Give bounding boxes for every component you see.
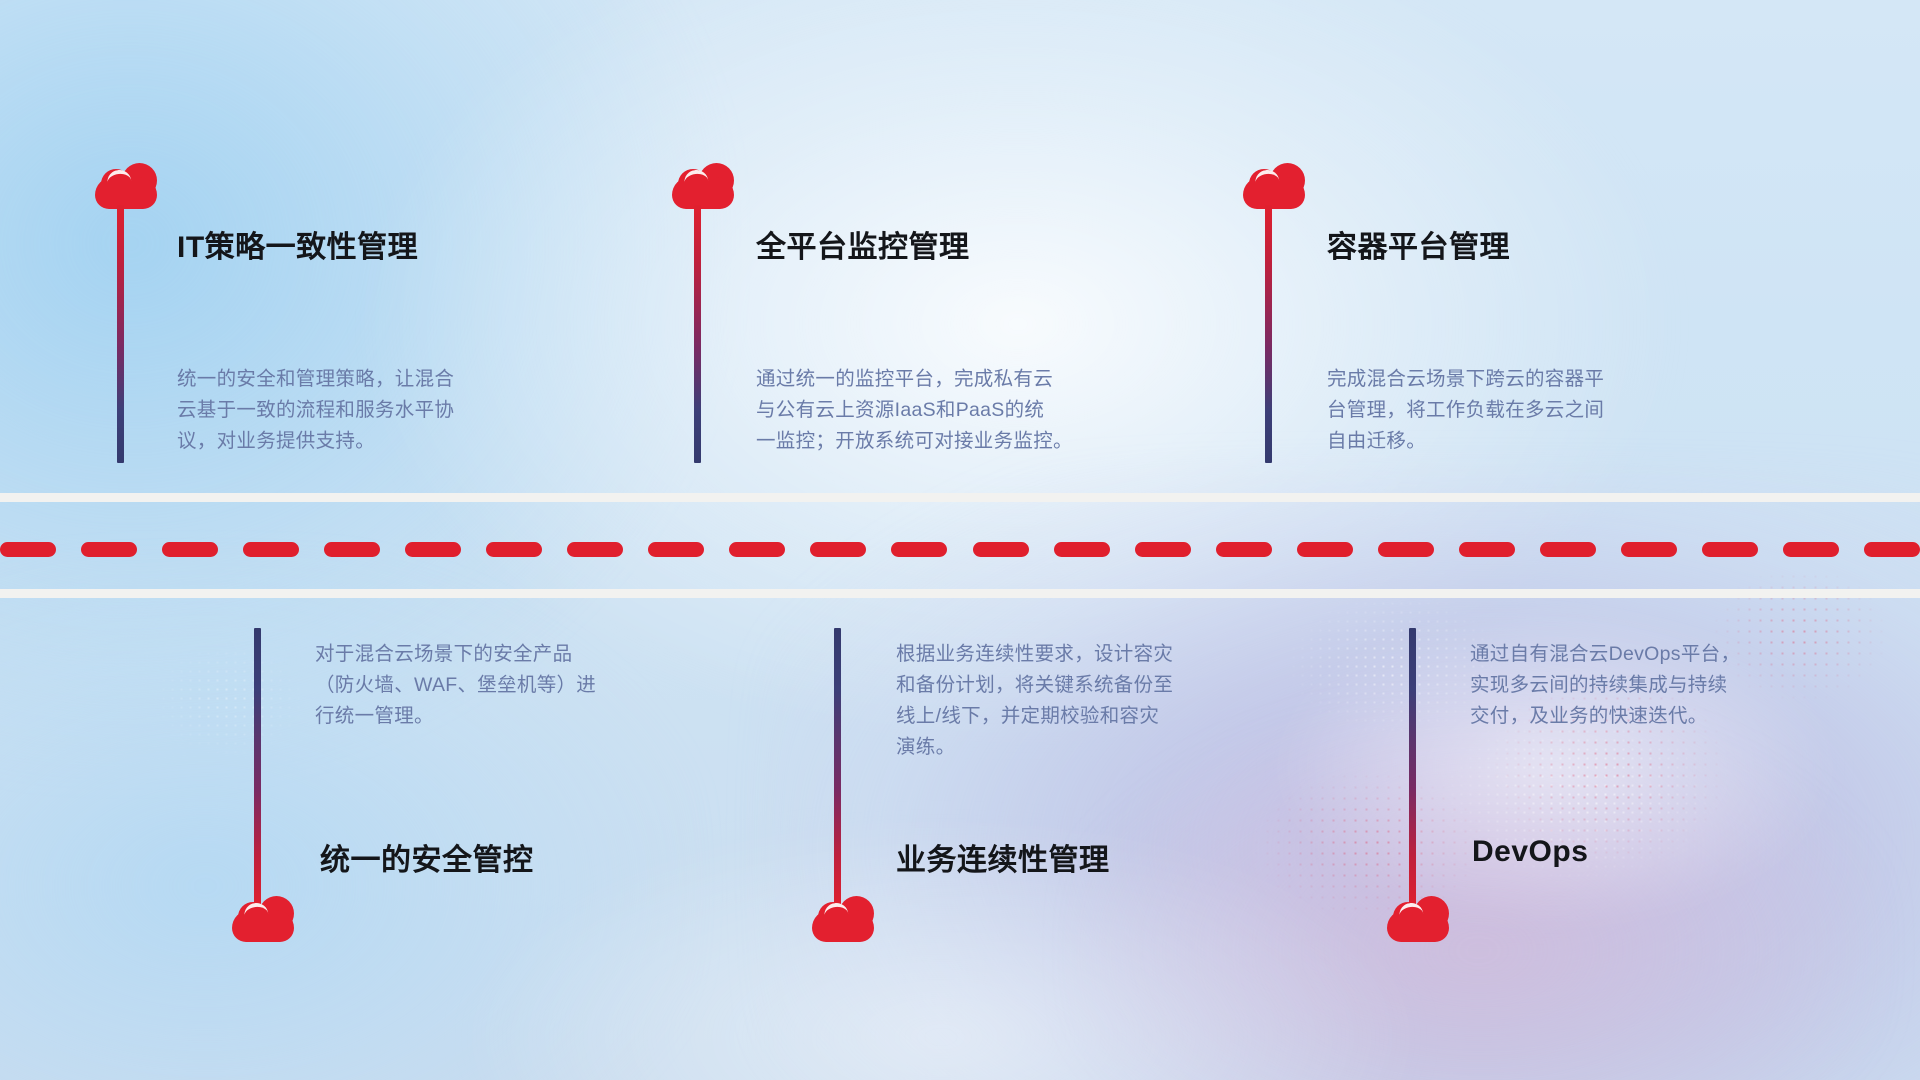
particle-cluster-white-3	[150, 640, 310, 760]
description-line: 台管理，将工作负载在多云之间	[1327, 395, 1747, 426]
connector-stem	[1409, 628, 1416, 908]
description-line: 对于混合云场景下的安全产品	[315, 639, 745, 670]
cloud-icon	[672, 163, 734, 209]
connector-stem	[117, 205, 124, 463]
description-line: 议，对业务提供支持。	[177, 426, 607, 457]
description-line: 演练。	[896, 732, 1326, 763]
item-title: IT策略一致性管理	[177, 222, 418, 266]
cloud-icon	[812, 896, 874, 942]
description-line: 行统一管理。	[315, 701, 745, 732]
item-description: 根据业务连续性要求，设计容灾 和备份计划，将关键系统备份至 线上/线下，并定期校…	[896, 639, 1326, 763]
item-title: 容器平台管理	[1327, 222, 1510, 266]
description-line: 统一的安全和管理策略，让混合	[177, 364, 607, 395]
road-dash-segment	[1864, 542, 1920, 557]
connector-stem	[254, 628, 261, 908]
item-description: 通过自有混合云DevOps平台， 实现多云间的持续集成与持续 交付，及业务的快速…	[1470, 639, 1890, 732]
road-dash-segment	[810, 542, 866, 557]
road-dash-segment	[648, 542, 704, 557]
item-description: 统一的安全和管理策略，让混合 云基于一致的流程和服务水平协 议，对业务提供支持。	[177, 364, 607, 457]
connector-stem	[1265, 205, 1272, 463]
description-line: 交付，及业务的快速迭代。	[1470, 701, 1890, 732]
cloud-icon	[95, 163, 157, 209]
road-divider	[0, 542, 1920, 557]
item-title: 业务连续性管理	[896, 835, 1110, 879]
cloud-icon	[232, 896, 294, 942]
road-dash-segment	[1540, 542, 1596, 557]
description-line: （防火墙、WAF、堡垒机等）进	[315, 670, 745, 701]
road-dash-segment	[729, 542, 785, 557]
road-dash-segment	[324, 542, 380, 557]
road-dash-segment	[1135, 542, 1191, 557]
road-dash-segment	[1621, 542, 1677, 557]
description-line: 根据业务连续性要求，设计容灾	[896, 639, 1326, 670]
description-line: 线上/线下，并定期校验和容灾	[896, 701, 1326, 732]
road-dash-segment	[486, 542, 542, 557]
description-line: 实现多云间的持续集成与持续	[1470, 670, 1890, 701]
connector-stem	[834, 628, 841, 908]
item-description: 完成混合云场景下跨云的容器平 台管理，将工作负载在多云之间 自由迁移。	[1327, 364, 1747, 457]
particle-cluster-red-2	[1240, 760, 1500, 930]
description-line: 一监控；开放系统可对接业务监控。	[756, 426, 1196, 457]
road-dash-segment	[243, 542, 299, 557]
road-dash-segment	[1378, 542, 1434, 557]
road-dash-segment	[1702, 542, 1758, 557]
road-dash-segment	[0, 542, 56, 557]
item-title: DevOps	[1472, 835, 1588, 869]
item-title: 统一的安全管控	[320, 835, 534, 879]
cloud-icon	[1387, 896, 1449, 942]
description-line: 通过自有混合云DevOps平台，	[1470, 639, 1890, 670]
road-dash-segment	[162, 542, 218, 557]
connector-stem	[694, 205, 701, 463]
description-line: 和备份计划，将关键系统备份至	[896, 670, 1326, 701]
road-dash-segment	[405, 542, 461, 557]
cloud-icon	[1243, 163, 1305, 209]
road-dash-segment	[567, 542, 623, 557]
description-line: 通过统一的监控平台，完成私有云	[756, 364, 1196, 395]
road-dash-segment	[973, 542, 1029, 557]
road-dash-segment	[1054, 542, 1110, 557]
road-dash-segment	[1459, 542, 1515, 557]
description-line: 云基于一致的流程和服务水平协	[177, 395, 607, 426]
road-edge-line-top	[0, 493, 1920, 502]
road-dash-segment	[1297, 542, 1353, 557]
road-dash-segment	[1216, 542, 1272, 557]
description-line: 与公有云上资源IaaS和PaaS的统	[756, 395, 1196, 426]
item-description: 通过统一的监控平台，完成私有云 与公有云上资源IaaS和PaaS的统 一监控；开…	[756, 364, 1196, 457]
item-title: 全平台监控管理	[756, 222, 970, 266]
road-dash-segment	[81, 542, 137, 557]
road-dash-segment	[891, 542, 947, 557]
road-edge-line-bottom	[0, 589, 1920, 598]
description-line: 完成混合云场景下跨云的容器平	[1327, 364, 1747, 395]
road-dash-segment	[1783, 542, 1839, 557]
description-line: 自由迁移。	[1327, 426, 1747, 457]
infographic-canvas: IT策略一致性管理 统一的安全和管理策略，让混合 云基于一致的流程和服务水平协 …	[0, 0, 1920, 1080]
item-description: 对于混合云场景下的安全产品 （防火墙、WAF、堡垒机等）进 行统一管理。	[315, 639, 745, 732]
